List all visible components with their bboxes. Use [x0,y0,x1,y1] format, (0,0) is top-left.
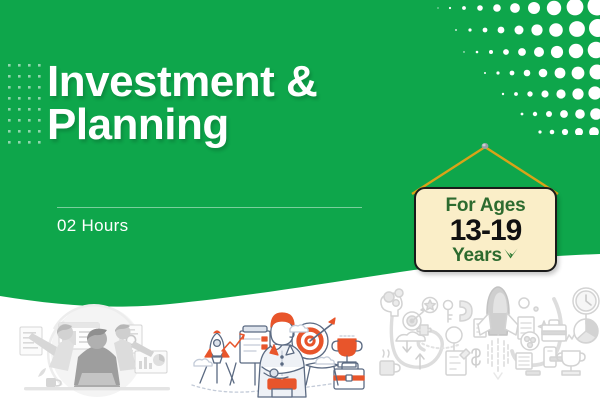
title-divider [57,207,362,208]
course-duration: 02 Hours [57,216,128,236]
badge-age-range: 13-19 [450,216,522,246]
course-banner-card: Investment & Planning 02 Hours For Ages … [0,0,600,407]
title-line-1: Investment & [47,60,407,103]
startup-icons-collage-illustration [358,283,600,385]
business-goals-illustration [186,293,366,401]
halftone-dot-gradient-icon [435,0,600,135]
title-line-2: Planning [47,103,407,146]
badge-bottom-row: Years [452,246,519,266]
badge-top-label: For Ages [445,196,525,216]
team-at-desk-illustration [2,299,192,399]
page-title: Investment & Planning [47,60,407,146]
badge-bottom-label: Years [452,246,502,266]
age-badge: For Ages 13-19 Years [406,142,566,282]
age-badge-plate: For Ages 13-19 Years [414,187,557,272]
dot-grid-icon [6,62,48,150]
green-check-swoosh-icon [503,248,519,262]
